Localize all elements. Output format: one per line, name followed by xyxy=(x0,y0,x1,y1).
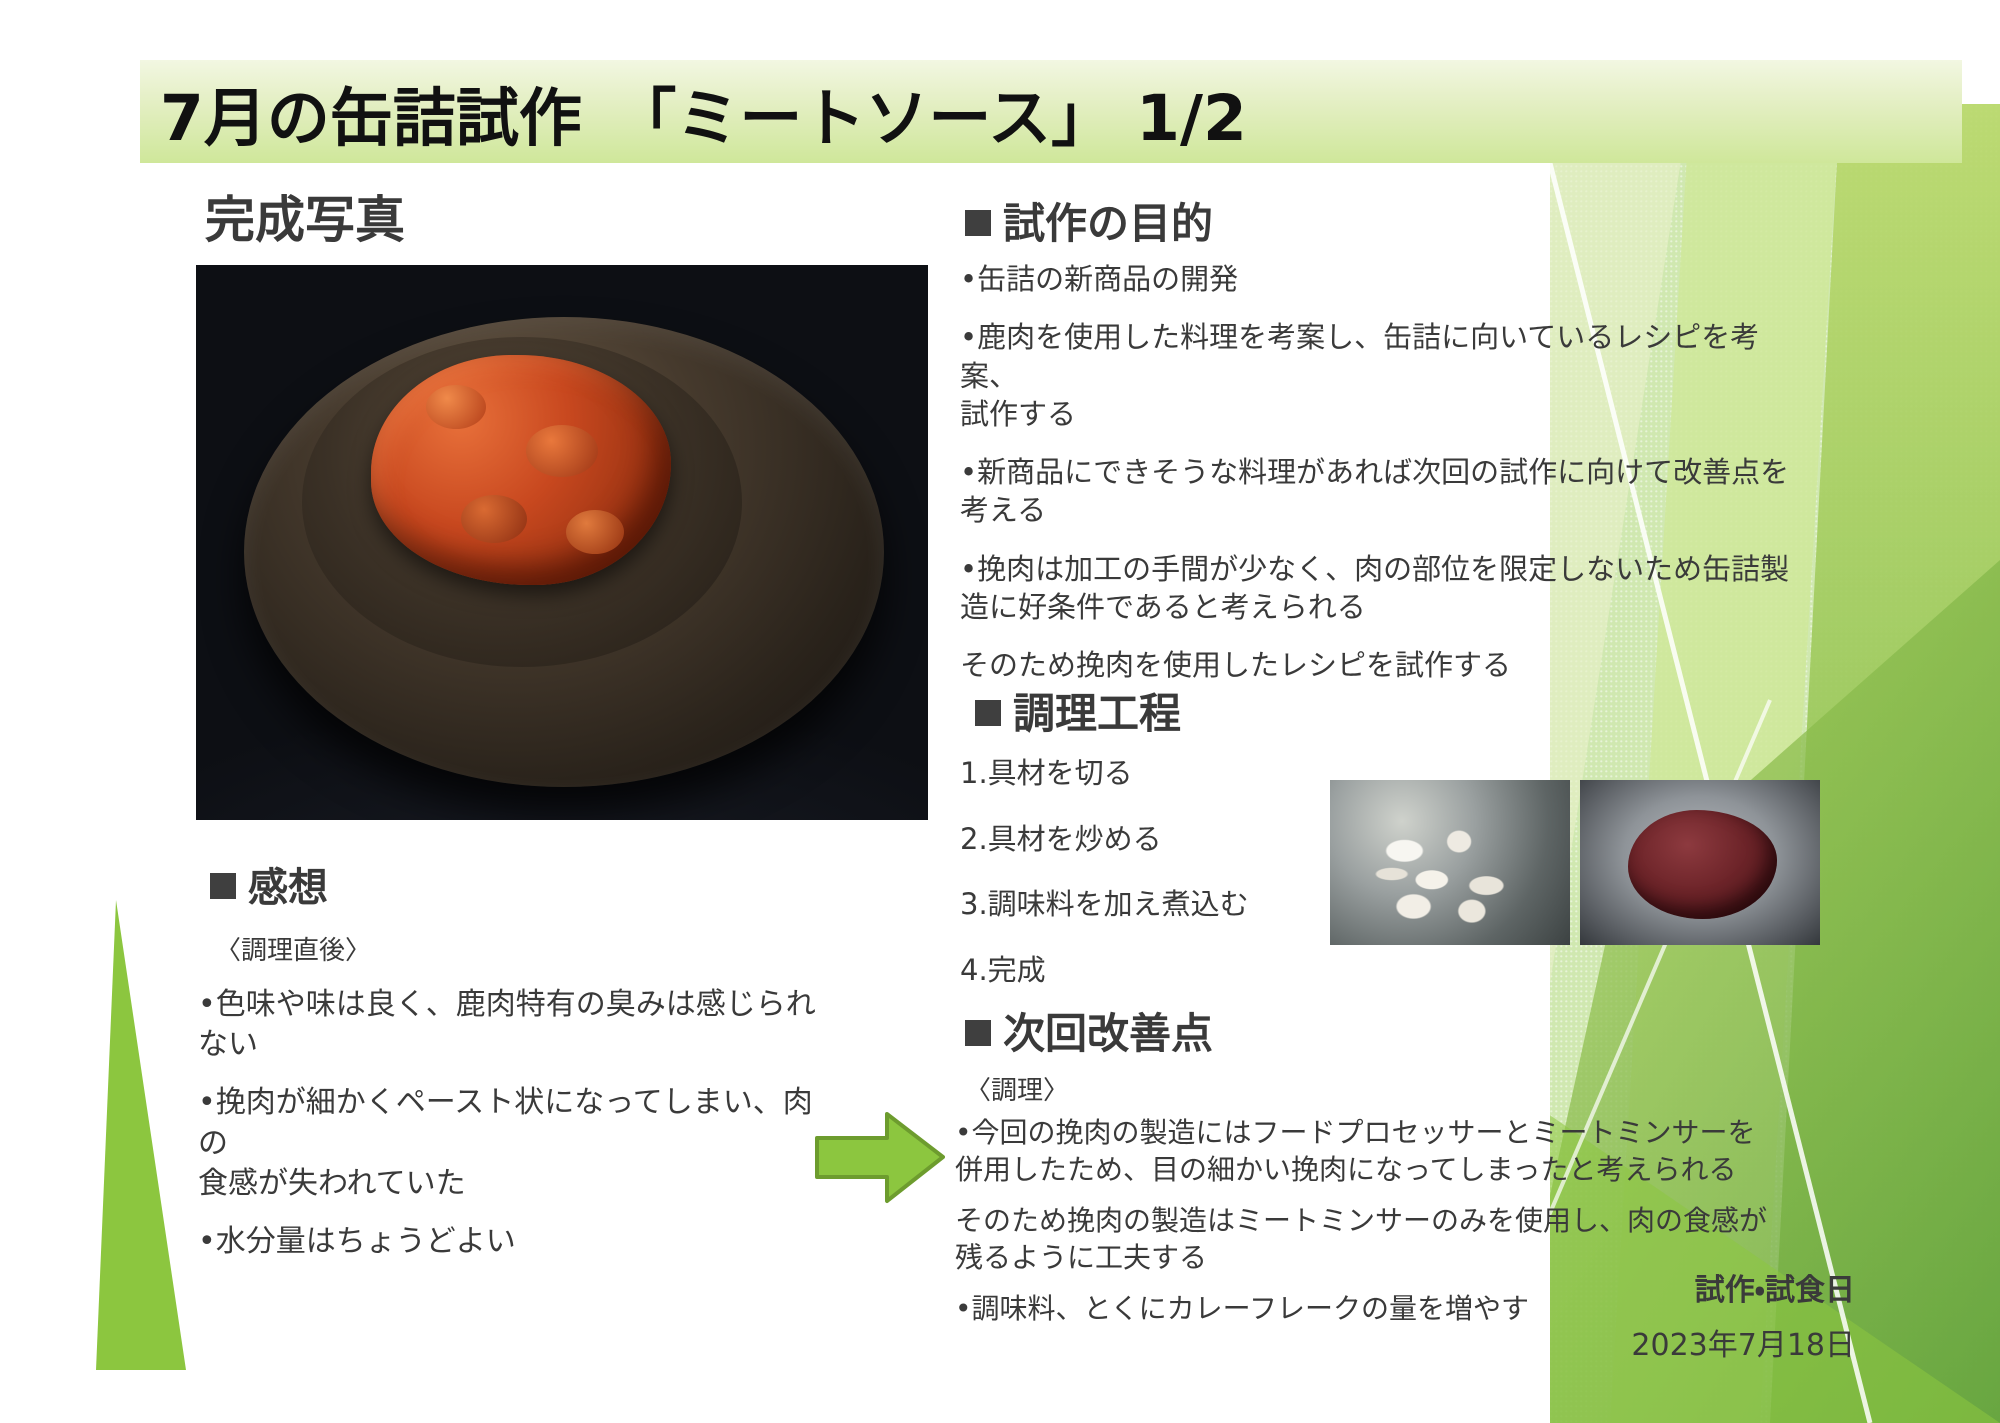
bullet-square-icon xyxy=(965,210,991,236)
sauce-lump xyxy=(566,510,624,554)
process-step: 4.完成 xyxy=(960,952,1380,990)
purpose-item: •挽肉は加工の手間が少なく、肉の部位を限定しないため缶詰製 造に好条件であると考… xyxy=(960,550,1800,627)
sauce-lump xyxy=(461,495,527,543)
impressions-heading-label: 感想 xyxy=(248,865,328,911)
purpose-item: •鹿肉を使用した料理を考案し、缶詰に向いているレシピを考案、 試作する xyxy=(960,318,1800,433)
bullet-square-icon xyxy=(210,873,236,899)
finished-dish-photo xyxy=(196,265,928,820)
left-green-wedge xyxy=(96,900,186,1370)
process-step: 2.具材を炒める xyxy=(960,821,1380,859)
sauce-lump xyxy=(426,385,486,429)
process-heading: 調理工程 xyxy=(975,680,1181,741)
chopped-onion-photo xyxy=(1330,780,1570,945)
impression-item: •水分量はちょうどよい xyxy=(198,1222,838,1262)
process-step-list: 1.具材を切る 2.具材を炒める 3.調味料を加え煮込む 4.完成 xyxy=(960,755,1380,1018)
purpose-list: •缶詰の新商品の開発 •鹿肉を使用した料理を考案し、缶詰に向いているレシピを考案… xyxy=(960,260,1800,704)
purpose-heading: 試作の目的 xyxy=(965,190,1213,251)
minced-meat-photo xyxy=(1580,780,1820,945)
improvement-item: •今回の挽肉の製造にはフードプロセッサーとミートミンサーを 併用したため、目の細… xyxy=(955,1115,1825,1189)
process-heading-label: 調理工程 xyxy=(1013,689,1181,738)
process-step: 3.調味料を加え煮込む xyxy=(960,886,1380,924)
right-arrow-icon xyxy=(815,1110,945,1205)
bullet-square-icon xyxy=(975,700,1001,726)
bullet-square-icon xyxy=(965,1020,991,1046)
process-photo-group xyxy=(1330,780,1820,945)
trial-date-label: 試作・試食日 xyxy=(1695,1265,1855,1309)
purpose-item: •缶詰の新商品の開発 xyxy=(960,260,1800,298)
improvements-heading-label: 次回改善点 xyxy=(1003,1009,1213,1058)
purpose-item: •新商品にできそうな料理があれば次回の試作に向けて改善点を 考える xyxy=(960,453,1800,530)
meat-sauce-shape xyxy=(371,355,671,585)
slide-root: 7月の缶詰試作 「ミートソース」 1/2 完成写真 感想 〈調理直後〉 •色味や… xyxy=(0,0,2000,1423)
purpose-heading-label: 試作の目的 xyxy=(1003,199,1213,248)
process-step: 1.具材を切る xyxy=(960,755,1380,793)
impressions-heading: 感想 xyxy=(210,855,328,913)
impression-item: •挽肉が細かくペースト状になってしまい、肉の 食感が失われていた xyxy=(198,1083,838,1204)
impressions-subheading: 〈調理直後〉 xyxy=(215,930,371,967)
page-title: 7月の缶詰試作 「ミートソース」 1/2 xyxy=(160,63,1660,163)
trial-date-value: 2023年7月18日 xyxy=(1631,1320,1855,1364)
sauce-lump xyxy=(526,425,598,477)
finished-photo-heading: 完成写真 xyxy=(205,180,405,252)
impressions-list: •色味や味は良く、鹿肉特有の臭みは感じられない •挽肉が細かくペースト状になって… xyxy=(198,985,838,1280)
improvements-heading: 次回改善点 xyxy=(965,1000,1213,1061)
purpose-item: そのため挽肉を使用したレシピを試作する xyxy=(960,646,1800,684)
impression-item: •色味や味は良く、鹿肉特有の臭みは感じられない xyxy=(198,985,838,1065)
improvements-subheading: 〈調理〉 xyxy=(965,1070,1069,1107)
